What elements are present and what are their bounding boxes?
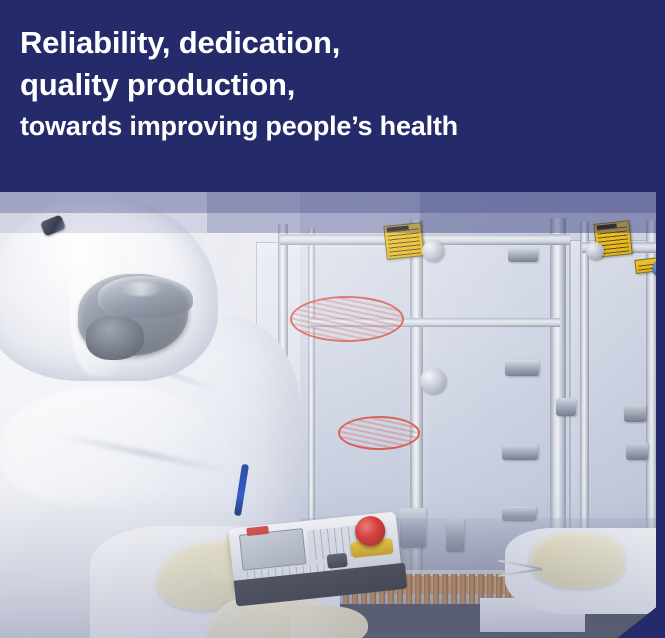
hazard-plaque	[383, 222, 424, 260]
pipe-clamp	[624, 404, 646, 422]
plaque-text-lines	[387, 228, 421, 256]
headline-line-2: quality production,	[20, 64, 638, 106]
pipe-clamp	[508, 248, 538, 262]
pipe-clamp	[556, 398, 576, 416]
visor-glint	[120, 282, 162, 296]
respirator-filter	[86, 316, 144, 360]
valve-knob	[586, 242, 604, 260]
headline-line-1: Reliability, dedication,	[20, 22, 638, 64]
right-edge-rule	[656, 0, 665, 638]
pipe-clamp	[505, 360, 539, 376]
floor-haze	[0, 488, 665, 638]
headline-block: Reliability, dedication, quality product…	[20, 22, 638, 146]
headline-line-3: towards improving people’s health	[20, 106, 638, 146]
pipe-clamp	[626, 442, 648, 460]
headline-banner: Reliability, dedication, quality product…	[0, 0, 656, 192]
brand-hero-slide: Reliability, dedication, quality product…	[0, 0, 665, 638]
pipe-clamp	[502, 444, 538, 460]
valve-knob	[422, 240, 444, 262]
valve-knob	[420, 368, 446, 394]
